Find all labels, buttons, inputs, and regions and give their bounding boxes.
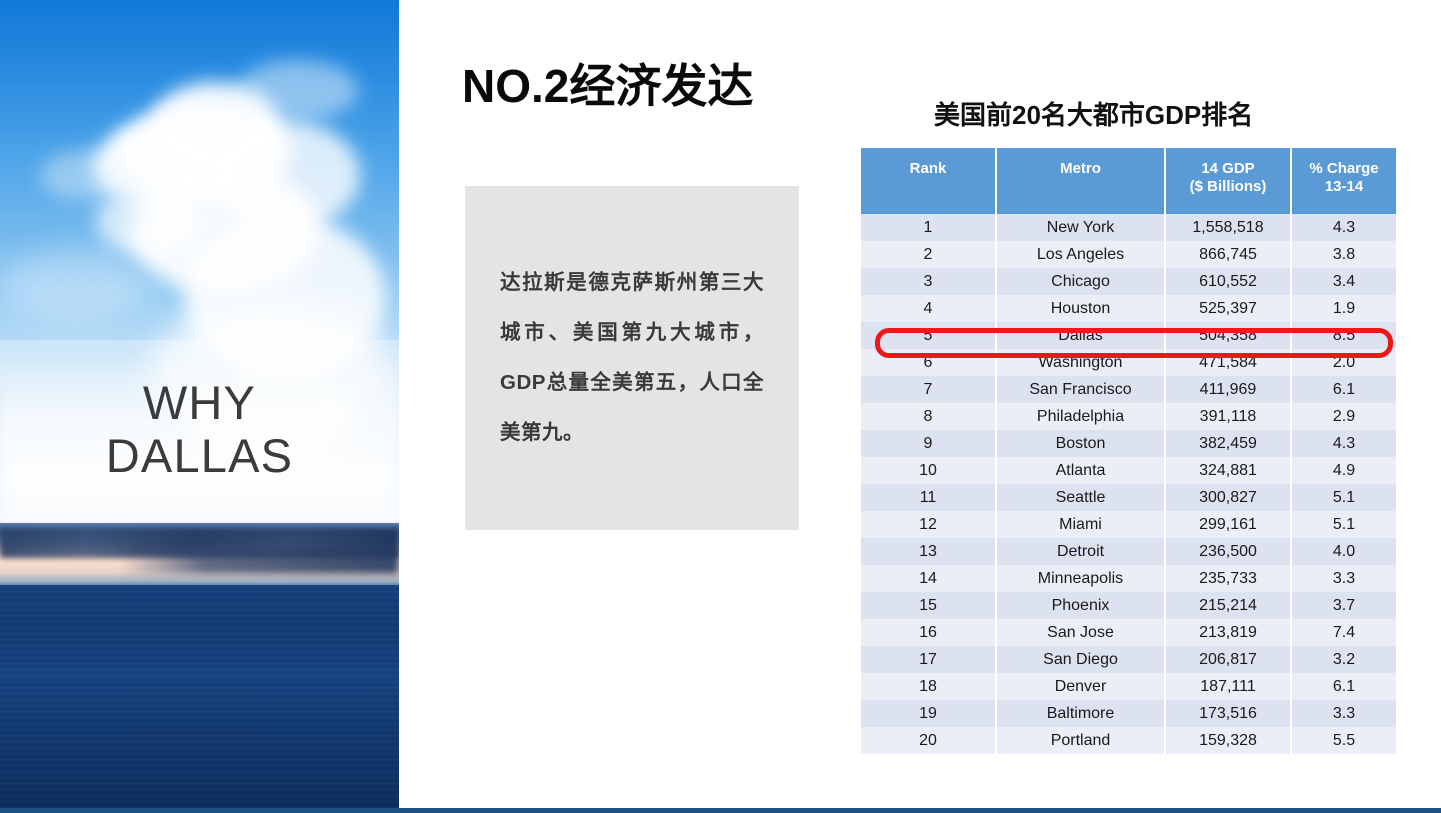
table-row: 15Phoenix215,2143.7 [861,592,1396,619]
table-row: 19Baltimore173,5163.3 [861,700,1396,727]
column-header-gdp: 14 GDP($ Billions) [1165,148,1291,214]
column-header-line: Rank [910,160,947,177]
metro-cell: Portland [996,727,1165,754]
change-cell: 3.8 [1291,241,1396,268]
metro-cell: Dallas [996,322,1165,349]
description-panel: 达拉斯是德克萨斯州第三大城市、美国第九大城市，GDP总量全美第五，人口全美第九。 [465,186,799,530]
description-text: 达拉斯是德克萨斯州第三大城市、美国第九大城市，GDP总量全美第五，人口全美第九。 [500,258,764,459]
metro-cell: Philadelphia [996,403,1165,430]
rank-cell: 1 [861,214,996,241]
table-row: 10Atlanta324,8814.9 [861,457,1396,484]
table-row: 13Detroit236,5004.0 [861,538,1396,565]
change-cell: 5.1 [1291,484,1396,511]
table-row: 6Washington471,5842.0 [861,349,1396,376]
change-cell: 4.0 [1291,538,1396,565]
change-cell: 3.2 [1291,646,1396,673]
rank-cell: 11 [861,484,996,511]
rank-cell: 20 [861,727,996,754]
change-cell: 3.7 [1291,592,1396,619]
change-cell: 1.9 [1291,295,1396,322]
table-row: 3Chicago610,5523.4 [861,268,1396,295]
ocean-water [0,585,399,808]
change-cell: 4.9 [1291,457,1396,484]
metro-cell: Minneapolis [996,565,1165,592]
metro-cell: New York [996,214,1165,241]
change-cell: 6.1 [1291,673,1396,700]
column-header-line: ($ Billions) [1190,178,1267,195]
table-row: 16San Jose213,8197.4 [861,619,1396,646]
table-row: 18Denver187,1116.1 [861,673,1396,700]
rank-cell: 3 [861,268,996,295]
metro-cell: Baltimore [996,700,1165,727]
gdp-cell: 213,819 [1165,619,1291,646]
metro-cell: San Diego [996,646,1165,673]
gdp-cell: 299,161 [1165,511,1291,538]
rank-cell: 4 [861,295,996,322]
rank-cell: 15 [861,592,996,619]
change-cell: 8.5 [1291,322,1396,349]
table-body: 1New York1,558,5184.32Los Angeles866,745… [861,214,1396,754]
metro-cell: San Jose [996,619,1165,646]
table-row: 7San Francisco411,9696.1 [861,376,1396,403]
rank-cell: 18 [861,673,996,700]
gdp-table-container: Rank Metro 14 GDP($ Billions) % Charge13… [861,148,1396,754]
cloud-wisp [0,250,150,320]
metro-cell: Atlanta [996,457,1165,484]
rank-cell: 13 [861,538,996,565]
table-row: 2Los Angeles866,7453.8 [861,241,1396,268]
gdp-cell: 187,111 [1165,673,1291,700]
gdp-cell: 471,584 [1165,349,1291,376]
rank-cell: 17 [861,646,996,673]
change-cell: 6.1 [1291,376,1396,403]
table-title: 美国前20名大都市GDP排名 [934,95,1253,132]
metro-cell: Denver [996,673,1165,700]
page-title: NO.2经济发达 [462,50,753,116]
rank-cell: 8 [861,403,996,430]
metro-cell: Phoenix [996,592,1165,619]
table-row: 12Miami299,1615.1 [861,511,1396,538]
column-header-line: 13-14 [1325,178,1363,195]
gdp-cell: 1,558,518 [1165,214,1291,241]
change-cell: 5.5 [1291,727,1396,754]
table-row: 9Boston382,4594.3 [861,430,1396,457]
gdp-cell: 866,745 [1165,241,1291,268]
rank-cell: 2 [861,241,996,268]
gdp-cell: 159,328 [1165,727,1291,754]
gdp-cell: 504,358 [1165,322,1291,349]
table-row: 17San Diego206,8173.2 [861,646,1396,673]
gdp-cell: 610,552 [1165,268,1291,295]
table-row: 8Philadelphia391,1182.9 [861,403,1396,430]
rank-cell: 6 [861,349,996,376]
gdp-cell: 173,516 [1165,700,1291,727]
change-cell: 4.3 [1291,430,1396,457]
column-header-line: % Charge [1309,160,1378,177]
cumulus-cloud [96,186,206,256]
rank-cell: 10 [861,457,996,484]
gdp-cell: 215,214 [1165,592,1291,619]
table-header-row: Rank Metro 14 GDP($ Billions) % Charge13… [861,148,1396,214]
gdp-cell: 411,969 [1165,376,1291,403]
why-dallas-title: WHY DALLAS [106,377,293,482]
rank-cell: 19 [861,700,996,727]
change-cell: 4.3 [1291,214,1396,241]
rank-cell: 5 [861,322,996,349]
gdp-cell: 525,397 [1165,295,1291,322]
rank-cell: 16 [861,619,996,646]
metro-cell: Houston [996,295,1165,322]
metro-cell: Boston [996,430,1165,457]
gdp-ranking-table: Rank Metro 14 GDP($ Billions) % Charge13… [861,148,1396,754]
metro-cell: Los Angeles [996,241,1165,268]
gdp-cell: 300,827 [1165,484,1291,511]
column-header-rank: Rank [861,148,996,214]
change-cell: 3.4 [1291,268,1396,295]
table-row: 5Dallas504,3588.5 [861,322,1396,349]
column-header-line: Metro [1060,160,1101,177]
column-header-line: 14 GDP [1201,160,1254,177]
metro-cell: Miami [996,511,1165,538]
gdp-cell: 382,459 [1165,430,1291,457]
rank-cell: 14 [861,565,996,592]
metro-cell: Seattle [996,484,1165,511]
hero-photo-panel: WHY DALLAS [0,0,399,808]
change-cell: 2.0 [1291,349,1396,376]
table-row: 20Portland159,3285.5 [861,727,1396,754]
gdp-cell: 206,817 [1165,646,1291,673]
slide-canvas: WHY DALLAS NO.2经济发达 达拉斯是德克萨斯州第三大城市、美国第九大… [0,0,1441,813]
table-row: 14Minneapolis235,7333.3 [861,565,1396,592]
change-cell: 5.1 [1291,511,1396,538]
column-header-change: % Charge13-14 [1291,148,1396,214]
gdp-cell: 236,500 [1165,538,1291,565]
gdp-cell: 235,733 [1165,565,1291,592]
table-row: 1New York1,558,5184.3 [861,214,1396,241]
rank-cell: 7 [861,376,996,403]
column-header-metro: Metro [996,148,1165,214]
slide-bottom-accent-bar [0,808,1441,813]
rank-cell: 9 [861,430,996,457]
metro-cell: Washington [996,349,1165,376]
gdp-cell: 324,881 [1165,457,1291,484]
table-row: 4Houston525,3971.9 [861,295,1396,322]
metro-cell: Detroit [996,538,1165,565]
gdp-cell: 391,118 [1165,403,1291,430]
photo-title-overlay: WHY DALLAS [0,340,399,520]
change-cell: 7.4 [1291,619,1396,646]
metro-cell: San Francisco [996,376,1165,403]
change-cell: 3.3 [1291,565,1396,592]
metro-cell: Chicago [996,268,1165,295]
change-cell: 2.9 [1291,403,1396,430]
rank-cell: 12 [861,511,996,538]
table-row: 11Seattle300,8275.1 [861,484,1396,511]
change-cell: 3.3 [1291,700,1396,727]
storm-cloud-band [120,548,399,574]
